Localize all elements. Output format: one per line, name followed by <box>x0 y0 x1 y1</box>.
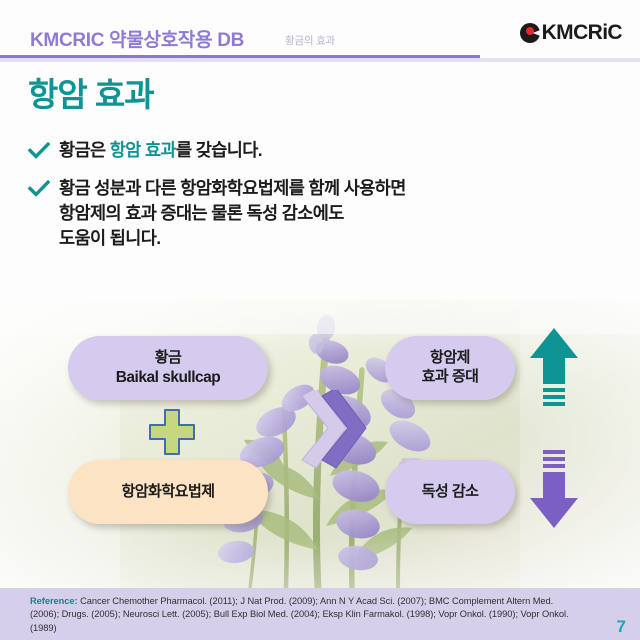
bullet-seg-highlight: 항암 효과 <box>110 140 176 160</box>
diagram-box-effect[interactable]: 항암제 효과 증대 <box>385 336 515 400</box>
slide-footer: Reference: Cancer Chemother Pharmacol. (… <box>0 588 640 640</box>
diagram-box-line: 황금 <box>155 349 182 368</box>
bullet-item: 황금 성분과 다른 항암화학요법제를 함께 사용하면 항암제의 효과 증대는 물… <box>28 176 618 251</box>
arrow-up-icon <box>528 328 580 406</box>
header-subtitle: 황금의 효과 <box>285 33 335 48</box>
diagram-box-line: 효과 증대 <box>422 368 479 387</box>
header-title: KMCRIC 약물상호작용 DB <box>30 25 244 52</box>
diagram-box-toxicity[interactable]: 독성 감소 <box>385 460 515 524</box>
diagram-region: 황금 Baikal skullcap 항암화학요법제 항암제 효과 증대 <box>0 300 640 588</box>
bullet-text: 황금 성분과 다른 항암화학요법제를 함께 사용하면 항암제의 효과 증대는 물… <box>59 176 406 251</box>
logo-text: KMCRiC <box>542 22 622 43</box>
check-icon <box>28 176 50 200</box>
diagram-box-line: 독성 감소 <box>422 483 479 502</box>
page-title: 항암 효과 <box>28 68 154 116</box>
slide: KMCRIC 약물상호작용 DB 황금의 효과 KMCRiC 항암 효과 황금은… <box>0 0 640 640</box>
double-chevron-right-icon <box>300 390 370 470</box>
check-icon <box>28 138 50 162</box>
reference-text: Reference: Cancer Chemother Pharmacol. (… <box>30 595 575 635</box>
logo-circle-icon <box>520 23 540 43</box>
diagram-box-line: Baikal skullcap <box>116 368 221 387</box>
bullet-seg: 황금은 <box>59 140 110 160</box>
diagram-box-line: 항암제 <box>430 349 470 368</box>
reference-label: Reference: <box>30 596 78 606</box>
bullet-text: 황금은 항암 효과를 갖습니다. <box>59 138 262 163</box>
page-number: 7 <box>617 617 626 637</box>
slide-header: KMCRIC 약물상호작용 DB 황금의 효과 KMCRiC <box>0 0 640 58</box>
diagram-box-chemo[interactable]: 항암화학요법제 <box>68 460 268 524</box>
plus-icon <box>148 408 196 456</box>
bullet-list: 황금은 항암 효과를 갖습니다. 황금 성분과 다른 항암화학요법제를 함께 사… <box>28 138 618 263</box>
header-divider-light <box>0 58 640 62</box>
diagram-box-herb[interactable]: 황금 Baikal skullcap <box>68 336 268 400</box>
arrow-down-icon <box>528 450 580 528</box>
bullet-seg: 를 갖습니다. <box>176 140 262 160</box>
bullet-item: 황금은 항암 효과를 갖습니다. <box>28 138 618 163</box>
kmcric-logo: KMCRiC <box>520 22 622 43</box>
reference-body: Cancer Chemother Pharmacol. (2011); J Na… <box>30 596 569 633</box>
diagram-box-line: 항암화학요법제 <box>121 483 214 502</box>
